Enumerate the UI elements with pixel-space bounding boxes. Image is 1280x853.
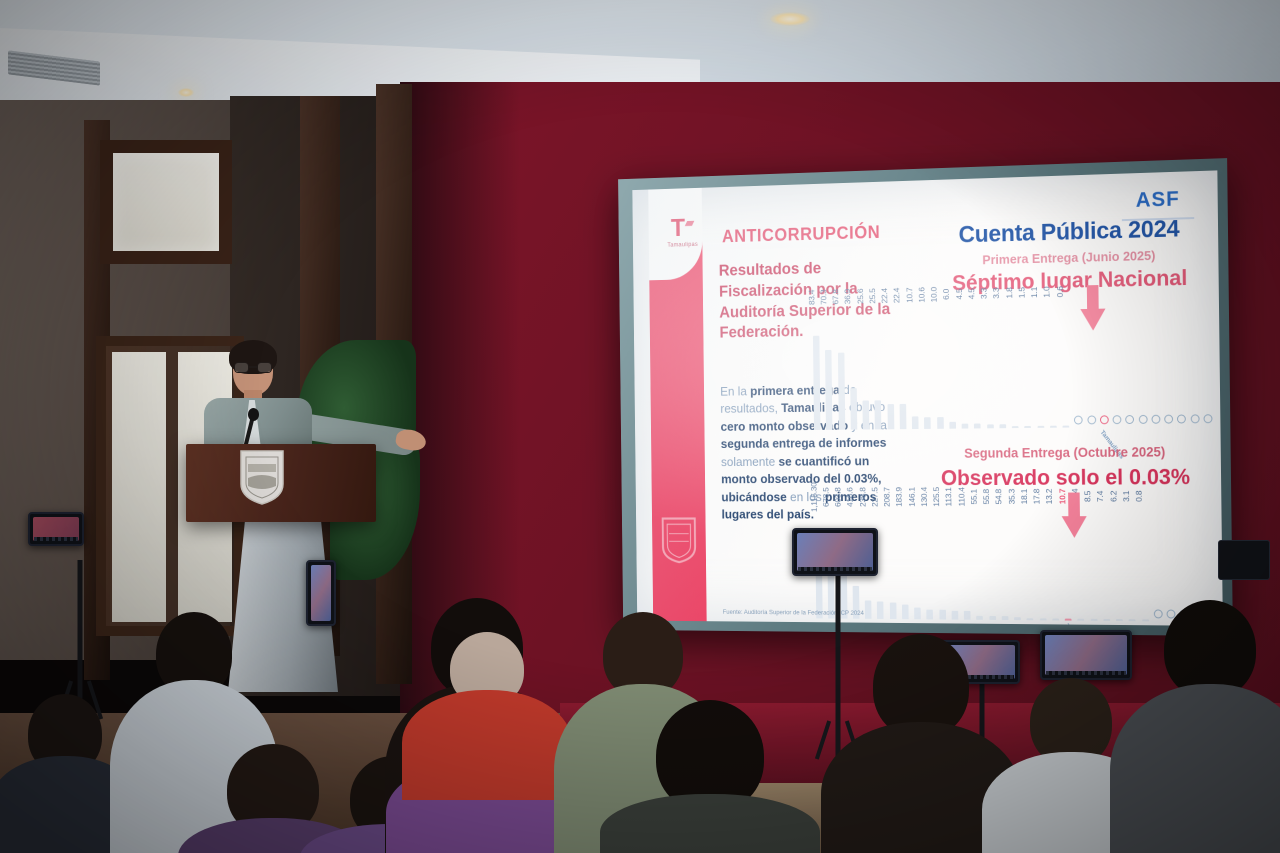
bar-value-label: 0.6	[1055, 286, 1065, 297]
bar-value-label: 22.4	[880, 288, 889, 303]
phone-camera-podium-side[interactable]	[306, 560, 336, 626]
audience-person-10	[836, 634, 1006, 853]
downlight-4	[770, 12, 810, 26]
bar: 10.4	[1078, 619, 1085, 621]
bar: 1.5	[1024, 426, 1031, 428]
speaker-glasses	[234, 362, 272, 373]
bar: 6.0	[949, 422, 956, 429]
bar-value-label: 0.8	[1134, 491, 1144, 502]
bar: 67.8	[838, 353, 845, 430]
bar-value-label: 0	[1151, 415, 1160, 424]
phone-camera-far-right[interactable]	[1040, 630, 1132, 680]
bar: 18.1	[1027, 618, 1034, 620]
bar: 113.1	[951, 611, 958, 620]
bar-value-label: 603.8	[833, 487, 842, 507]
bar-value-label: 54.8	[994, 489, 1004, 504]
bar-value-label: 238.8	[858, 487, 867, 507]
podium-state-seal	[238, 448, 286, 506]
bar-value-label: 70.3	[819, 289, 828, 304]
bar-value-label: 6.0	[942, 289, 952, 300]
tamaulipas-seal-watermark	[659, 515, 699, 564]
bar-value-label: 0	[1138, 415, 1147, 424]
bar-value-label: 3.3	[992, 288, 1002, 299]
bar-value-label: 0	[1113, 415, 1122, 424]
bar-value-label: 0	[1087, 415, 1096, 424]
bar: 6.2	[1116, 619, 1123, 621]
bar-value-label: 0	[1177, 414, 1186, 423]
bar: 22.4	[899, 404, 906, 430]
bar-value-label: 25.6	[855, 289, 864, 304]
bar-value-label: 83.4	[807, 290, 816, 305]
bar: 208.7	[889, 603, 896, 619]
camera-rig-right	[1218, 540, 1270, 580]
slide-title-main: Cuenta Pública 2024	[925, 214, 1214, 250]
bar-value-label: 1.1	[1029, 287, 1039, 298]
bar-value-label: 18.1	[1019, 489, 1029, 504]
bar-value-label: 0	[1164, 415, 1173, 424]
bar: 3.3	[987, 424, 994, 428]
bar: 1.1	[1037, 426, 1044, 428]
bar-value-label: 35.3	[1007, 489, 1017, 504]
bar-value-label: 6.2	[1108, 491, 1118, 502]
bar: 10.6	[924, 417, 931, 429]
bar-value-label: 22.4	[892, 288, 901, 303]
audience-person-7	[402, 632, 572, 792]
bar-value-label: 0	[1100, 415, 1109, 424]
bar-value-label: 183.9	[894, 487, 904, 507]
bar: 36.9	[850, 388, 857, 430]
bar-value-label: 416.6	[845, 487, 854, 507]
bar-value-label: 1.8	[1004, 287, 1014, 298]
bar: 0.6	[1063, 426, 1070, 428]
bar-value-label: 0	[1203, 414, 1212, 423]
screen-frame: T▰ Tamaulipas ANTICORRUPCIÓN Resultados …	[618, 158, 1233, 636]
bar: 10.0	[937, 417, 944, 429]
audience-person-12	[1130, 600, 1280, 853]
bar: 3.3	[999, 424, 1006, 428]
tamaulipas-mark: T▰	[659, 214, 706, 240]
bar-value-label: 0	[1074, 416, 1083, 425]
bar: 55.1	[976, 615, 983, 619]
bar-value-label: 678.5	[821, 487, 830, 507]
bar: 125.5	[939, 610, 946, 620]
bar: 13.2	[1052, 619, 1059, 621]
door-glass-left	[112, 352, 166, 622]
asf-logo-text: ASF	[1121, 187, 1194, 213]
bar: 22.4	[887, 404, 894, 430]
conference-room-scene: T▰ Tamaulipas ANTICORRUPCIÓN Resultados …	[0, 0, 1280, 853]
bar: 25.5	[875, 400, 882, 429]
bar-value-label: 227.5	[870, 487, 879, 507]
bar: 227.5	[877, 601, 884, 619]
bar-value-label: 1.5	[1017, 287, 1027, 298]
bar: 238.8	[865, 600, 872, 619]
bar: 183.9	[902, 605, 909, 619]
bar: 17.8	[1039, 619, 1046, 621]
bar-value-label: 110.4	[956, 487, 966, 506]
bar-value-label: 3.1	[1121, 491, 1131, 502]
tripod-left	[60, 520, 100, 720]
brand-tick-icon: ▰	[685, 215, 694, 230]
bar: 83.4	[813, 335, 821, 430]
window-upper	[100, 140, 232, 264]
bar: 4.5	[962, 423, 969, 428]
bar-value-label: 10.6	[917, 287, 927, 303]
bar-value-label: 0	[1190, 414, 1199, 423]
arrow-down-icon-1	[1080, 285, 1106, 331]
bar-value-label: 0	[1126, 415, 1135, 424]
bar: 25.6	[863, 400, 870, 429]
bar-value-label: 25.5	[868, 288, 877, 303]
phone-camera-left[interactable]	[28, 512, 84, 546]
bar-value-label: 1.0	[1042, 287, 1052, 298]
bar-value-label: 67.8	[831, 289, 840, 304]
bar: 10.7	[912, 417, 919, 429]
bar-category-label: Tamaulipas	[1063, 623, 1089, 626]
chart-primera-entrega: 83.470.367.836.925.625.522.422.410.710.6…	[810, 290, 1215, 430]
bar: 55.8	[989, 616, 996, 620]
bar: 1.8	[1012, 426, 1019, 428]
slide-canvas: T▰ Tamaulipas ANTICORRUPCIÓN Resultados …	[632, 170, 1223, 626]
bar-value-label: 1,115.30	[809, 482, 818, 512]
bar-value-label: 7.4	[1095, 491, 1105, 502]
slide: T▰ Tamaulipas ANTICORRUPCIÓN Resultados …	[632, 170, 1223, 626]
bar: 10.7	[1065, 619, 1072, 621]
audience-person-9	[620, 700, 800, 853]
bar-value-label: 3.3	[979, 288, 989, 299]
phone-camera-center[interactable]	[792, 528, 878, 576]
bar-value-label: 208.7	[882, 487, 892, 507]
section2-subtitle: Segunda Entrega (Octubre 2025)	[908, 444, 1223, 461]
arrow-down-icon-2	[1061, 492, 1087, 537]
bar-value-label: 10.0	[929, 287, 939, 303]
bar-value-label: 4.5	[967, 288, 977, 299]
bar-value-label: 125.5	[932, 487, 942, 507]
chart-1-bars: 83.470.367.836.925.625.522.422.410.710.6…	[810, 290, 1215, 430]
tamaulipas-brand-logo: T▰ Tamaulipas	[659, 214, 706, 249]
bar: 35.3	[1014, 617, 1021, 620]
bar: 8.5	[1090, 619, 1097, 621]
bar-value-label: 17.8	[1032, 489, 1042, 504]
microphone-head-icon	[248, 408, 259, 421]
bar: 54.8	[1002, 616, 1009, 620]
bar: 70.3	[825, 350, 832, 430]
brand-letter: T	[671, 213, 685, 242]
bar: 4.5	[974, 423, 981, 428]
bar: 7.4	[1103, 619, 1110, 621]
bar-value-label: 10.7	[904, 287, 914, 302]
bar-value-label: 55.8	[981, 489, 991, 504]
bar-value-label: 36.9	[843, 289, 852, 304]
bar: 1.0	[1050, 426, 1057, 428]
projection-screen: T▰ Tamaulipas ANTICORRUPCIÓN Resultados …	[618, 158, 1233, 636]
bar-value-label: 13.2	[1044, 489, 1054, 505]
bar: 110.4	[964, 611, 971, 620]
bar-value-label: 130.4	[919, 487, 929, 507]
bar-value-label: 4.5	[954, 289, 964, 300]
downlight-1	[178, 88, 194, 97]
bar-value-label: 146.1	[907, 487, 917, 507]
bar-column: 0	[1200, 290, 1215, 426]
bar: 130.4	[927, 609, 934, 619]
bar-value-label: 113.1	[944, 487, 954, 506]
bar: 146.1	[914, 608, 921, 619]
bar-value-label: 55.1	[969, 489, 979, 504]
slide-kicker: ANTICORRUPCIÓN	[722, 222, 881, 247]
